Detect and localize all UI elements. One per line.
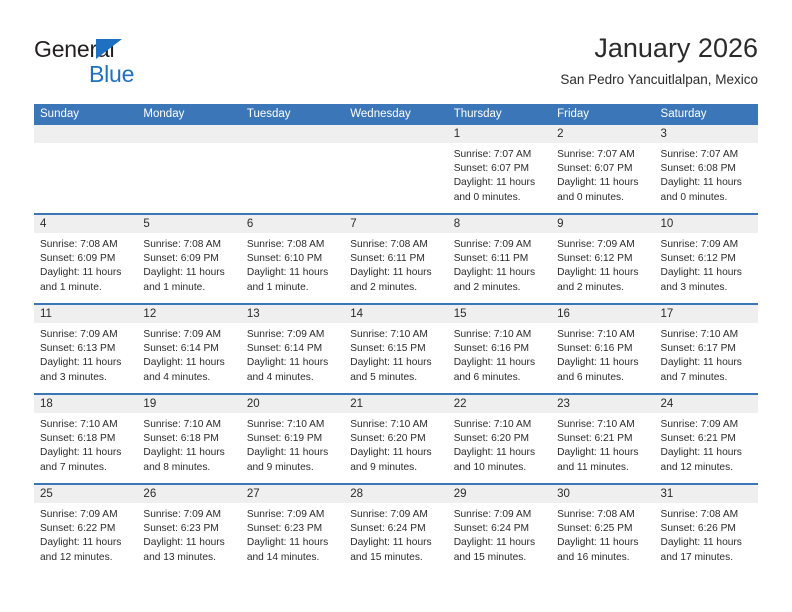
day-number-band: 31 (655, 485, 758, 503)
day-number: 25 (34, 485, 137, 503)
day-number: 2 (551, 125, 654, 143)
day-details: Sunrise: 7:09 AMSunset: 6:24 PMDaylight:… (344, 503, 447, 565)
day-cell-30[interactable]: 30Sunrise: 7:08 AMSunset: 6:25 PMDayligh… (551, 485, 654, 573)
calendar-page: General Blue January 2026 San Pedro Yanc… (0, 0, 792, 612)
detail-line: and 2 minutes. (454, 281, 545, 295)
page-subtitle: San Pedro Yancuitlalpan, Mexico (560, 71, 758, 89)
day-details: Sunrise: 7:09 AMSunset: 6:22 PMDaylight:… (34, 503, 137, 565)
weekday-header-saturday: Saturday (655, 104, 758, 125)
day-number-band: 2 (551, 125, 654, 143)
detail-line: Sunset: 6:19 PM (247, 432, 338, 446)
detail-line: and 2 minutes. (350, 281, 441, 295)
detail-line: and 12 minutes. (661, 461, 752, 475)
detail-line: Sunset: 6:20 PM (454, 432, 545, 446)
day-number: 3 (655, 125, 758, 143)
detail-line: Sunset: 6:23 PM (143, 522, 234, 536)
detail-line: and 11 minutes. (557, 461, 648, 475)
detail-line: Sunrise: 7:07 AM (661, 148, 752, 162)
detail-line: Daylight: 11 hours (247, 536, 338, 550)
calendar-week-row: 25Sunrise: 7:09 AMSunset: 6:22 PMDayligh… (34, 483, 758, 573)
detail-line: Daylight: 11 hours (454, 446, 545, 460)
detail-line: Sunrise: 7:10 AM (143, 418, 234, 432)
title-block: January 2026 San Pedro Yancuitlalpan, Me… (560, 32, 758, 89)
detail-line: Sunrise: 7:10 AM (40, 418, 131, 432)
day-number-band (34, 125, 137, 143)
day-number: 1 (448, 125, 551, 143)
detail-line: Sunset: 6:18 PM (143, 432, 234, 446)
day-number-band: 26 (137, 485, 240, 503)
detail-line: Sunrise: 7:09 AM (143, 508, 234, 522)
day-number: 26 (137, 485, 240, 503)
detail-line: Sunset: 6:24 PM (454, 522, 545, 536)
day-number: 23 (551, 395, 654, 413)
detail-line: and 16 minutes. (557, 551, 648, 565)
detail-line: Daylight: 11 hours (143, 266, 234, 280)
day-details: Sunrise: 7:10 AMSunset: 6:16 PMDaylight:… (551, 323, 654, 385)
detail-line: Daylight: 11 hours (661, 176, 752, 190)
detail-line: and 9 minutes. (350, 461, 441, 475)
detail-line: and 4 minutes. (143, 371, 234, 385)
day-details: Sunrise: 7:09 AMSunset: 6:23 PMDaylight:… (137, 503, 240, 565)
detail-line: Daylight: 11 hours (40, 446, 131, 460)
detail-line: Sunset: 6:12 PM (661, 252, 752, 266)
detail-line: and 12 minutes. (40, 551, 131, 565)
day-details: Sunrise: 7:09 AMSunset: 6:12 PMDaylight:… (551, 233, 654, 295)
page-title: January 2026 (560, 32, 758, 64)
detail-line: Daylight: 11 hours (350, 266, 441, 280)
weekday-header-tuesday: Tuesday (241, 104, 344, 125)
detail-line: Daylight: 11 hours (40, 356, 131, 370)
day-cell-18[interactable]: 18Sunrise: 7:10 AMSunset: 6:18 PMDayligh… (34, 395, 137, 483)
day-number-band: 27 (241, 485, 344, 503)
day-details: Sunrise: 7:10 AMSunset: 6:20 PMDaylight:… (344, 413, 447, 475)
detail-line: Daylight: 11 hours (661, 446, 752, 460)
detail-line: Sunset: 6:10 PM (247, 252, 338, 266)
detail-line: and 0 minutes. (661, 191, 752, 205)
detail-line: Daylight: 11 hours (661, 266, 752, 280)
detail-line: Sunset: 6:21 PM (661, 432, 752, 446)
day-number: 17 (655, 305, 758, 323)
detail-line: Sunrise: 7:10 AM (661, 328, 752, 342)
day-details: Sunrise: 7:10 AMSunset: 6:20 PMDaylight:… (448, 413, 551, 475)
day-cell-empty (344, 125, 447, 213)
detail-line: and 5 minutes. (350, 371, 441, 385)
day-number-band: 15 (448, 305, 551, 323)
detail-line: Sunrise: 7:08 AM (247, 238, 338, 252)
day-cell-27[interactable]: 27Sunrise: 7:09 AMSunset: 6:23 PMDayligh… (241, 485, 344, 573)
detail-line: Daylight: 11 hours (350, 446, 441, 460)
detail-line: Sunset: 6:14 PM (143, 342, 234, 356)
detail-line: Sunrise: 7:09 AM (40, 328, 131, 342)
detail-line: Sunset: 6:24 PM (350, 522, 441, 536)
day-details: Sunrise: 7:08 AMSunset: 6:09 PMDaylight:… (34, 233, 137, 295)
calendar-week-row: 18Sunrise: 7:10 AMSunset: 6:18 PMDayligh… (34, 393, 758, 483)
day-number: 19 (137, 395, 240, 413)
detail-line: Daylight: 11 hours (40, 266, 131, 280)
detail-line: and 0 minutes. (557, 191, 648, 205)
detail-line: Sunrise: 7:09 AM (247, 328, 338, 342)
detail-line: Daylight: 11 hours (557, 356, 648, 370)
detail-line: Daylight: 11 hours (350, 356, 441, 370)
detail-line: Sunset: 6:13 PM (40, 342, 131, 356)
detail-line: Daylight: 11 hours (247, 446, 338, 460)
day-number-band: 18 (34, 395, 137, 413)
calendar-week-row: 11Sunrise: 7:09 AMSunset: 6:13 PMDayligh… (34, 303, 758, 393)
day-details: Sunrise: 7:10 AMSunset: 6:21 PMDaylight:… (551, 413, 654, 475)
day-details: Sunrise: 7:09 AMSunset: 6:23 PMDaylight:… (241, 503, 344, 565)
day-number: 11 (34, 305, 137, 323)
weekday-header-monday: Monday (137, 104, 240, 125)
detail-line: and 15 minutes. (454, 551, 545, 565)
detail-line: and 7 minutes. (40, 461, 131, 475)
day-details: Sunrise: 7:10 AMSunset: 6:17 PMDaylight:… (655, 323, 758, 385)
day-number-band: 8 (448, 215, 551, 233)
day-number: 22 (448, 395, 551, 413)
day-number-band: 19 (137, 395, 240, 413)
day-details: Sunrise: 7:07 AMSunset: 6:08 PMDaylight:… (655, 143, 758, 205)
detail-line: Daylight: 11 hours (454, 536, 545, 550)
detail-line: Daylight: 11 hours (557, 176, 648, 190)
weekday-header-friday: Friday (551, 104, 654, 125)
detail-line: Sunset: 6:11 PM (454, 252, 545, 266)
day-details: Sunrise: 7:08 AMSunset: 6:26 PMDaylight:… (655, 503, 758, 565)
detail-line: Sunset: 6:18 PM (40, 432, 131, 446)
day-number-band: 10 (655, 215, 758, 233)
day-details: Sunrise: 7:09 AMSunset: 6:12 PMDaylight:… (655, 233, 758, 295)
logo-line-two: Blue (34, 60, 254, 88)
day-cell-29[interactable]: 29Sunrise: 7:09 AMSunset: 6:24 PMDayligh… (448, 485, 551, 573)
day-details: Sunrise: 7:09 AMSunset: 6:21 PMDaylight:… (655, 413, 758, 475)
day-cell-empty (34, 125, 137, 213)
day-number: 13 (241, 305, 344, 323)
day-details: Sunrise: 7:09 AMSunset: 6:14 PMDaylight:… (137, 323, 240, 385)
detail-line: and 8 minutes. (143, 461, 234, 475)
detail-line: Daylight: 11 hours (557, 446, 648, 460)
detail-line: Sunrise: 7:09 AM (350, 508, 441, 522)
detail-line: Sunrise: 7:08 AM (350, 238, 441, 252)
weekday-header-thursday: Thursday (448, 104, 551, 125)
day-cell-28[interactable]: 28Sunrise: 7:09 AMSunset: 6:24 PMDayligh… (344, 485, 447, 573)
logo-line-one: General (34, 36, 254, 62)
day-number-band: 24 (655, 395, 758, 413)
day-number-band: 20 (241, 395, 344, 413)
triangle-icon (96, 39, 122, 59)
detail-line: Daylight: 11 hours (557, 536, 648, 550)
day-number-band: 14 (344, 305, 447, 323)
detail-line: Sunset: 6:21 PM (557, 432, 648, 446)
generalblue-logo[interactable]: General Blue (34, 36, 254, 88)
day-details: Sunrise: 7:07 AMSunset: 6:07 PMDaylight:… (448, 143, 551, 205)
detail-line: and 1 minute. (143, 281, 234, 295)
detail-line: Sunset: 6:14 PM (247, 342, 338, 356)
day-number-band: 6 (241, 215, 344, 233)
detail-line: and 1 minute. (40, 281, 131, 295)
detail-line: Daylight: 11 hours (40, 536, 131, 550)
day-cell-3[interactable]: 3Sunrise: 7:07 AMSunset: 6:08 PMDaylight… (655, 125, 758, 213)
day-details: Sunrise: 7:10 AMSunset: 6:18 PMDaylight:… (137, 413, 240, 475)
day-cell-11[interactable]: 11Sunrise: 7:09 AMSunset: 6:13 PMDayligh… (34, 305, 137, 393)
day-cell-14[interactable]: 14Sunrise: 7:10 AMSunset: 6:15 PMDayligh… (344, 305, 447, 393)
detail-line: Sunrise: 7:09 AM (40, 508, 131, 522)
day-cell-5[interactable]: 5Sunrise: 7:08 AMSunset: 6:09 PMDaylight… (137, 215, 240, 303)
day-number-band: 12 (137, 305, 240, 323)
detail-line: Sunrise: 7:08 AM (661, 508, 752, 522)
calendar-week-row: 1Sunrise: 7:07 AMSunset: 6:07 PMDaylight… (34, 125, 758, 213)
detail-line: Sunrise: 7:09 AM (454, 508, 545, 522)
day-number-band: 13 (241, 305, 344, 323)
detail-line: and 4 minutes. (247, 371, 338, 385)
detail-line: Sunset: 6:26 PM (661, 522, 752, 536)
day-number: 12 (137, 305, 240, 323)
calendar-week-row: 4Sunrise: 7:08 AMSunset: 6:09 PMDaylight… (34, 213, 758, 303)
detail-line: Sunset: 6:08 PM (661, 162, 752, 176)
weekday-header-row: SundayMondayTuesdayWednesdayThursdayFrid… (34, 104, 758, 125)
detail-line: Daylight: 11 hours (143, 536, 234, 550)
day-details: Sunrise: 7:10 AMSunset: 6:15 PMDaylight:… (344, 323, 447, 385)
detail-line: Sunrise: 7:10 AM (557, 328, 648, 342)
day-number-band: 30 (551, 485, 654, 503)
day-number: 10 (655, 215, 758, 233)
detail-line: Sunrise: 7:09 AM (143, 328, 234, 342)
detail-line: and 17 minutes. (661, 551, 752, 565)
day-number: 31 (655, 485, 758, 503)
day-number-band: 16 (551, 305, 654, 323)
day-number-band (241, 125, 344, 143)
detail-line: Sunset: 6:23 PM (247, 522, 338, 536)
day-number: 21 (344, 395, 447, 413)
day-number-band: 21 (344, 395, 447, 413)
detail-line: Sunset: 6:25 PM (557, 522, 648, 536)
day-cell-13[interactable]: 13Sunrise: 7:09 AMSunset: 6:14 PMDayligh… (241, 305, 344, 393)
detail-line: Sunrise: 7:10 AM (350, 418, 441, 432)
detail-line: Sunrise: 7:09 AM (247, 508, 338, 522)
detail-line: and 14 minutes. (247, 551, 338, 565)
detail-line: Sunset: 6:17 PM (661, 342, 752, 356)
detail-line: Daylight: 11 hours (661, 356, 752, 370)
day-number: 28 (344, 485, 447, 503)
detail-line: Sunrise: 7:10 AM (247, 418, 338, 432)
day-number-band: 29 (448, 485, 551, 503)
day-number: 20 (241, 395, 344, 413)
detail-line: Daylight: 11 hours (454, 356, 545, 370)
detail-line: Sunset: 6:16 PM (454, 342, 545, 356)
day-details: Sunrise: 7:09 AMSunset: 6:13 PMDaylight:… (34, 323, 137, 385)
day-details: Sunrise: 7:10 AMSunset: 6:19 PMDaylight:… (241, 413, 344, 475)
detail-line: Sunset: 6:09 PM (40, 252, 131, 266)
day-number-band (344, 125, 447, 143)
day-number-band: 5 (137, 215, 240, 233)
day-cell-6[interactable]: 6Sunrise: 7:08 AMSunset: 6:10 PMDaylight… (241, 215, 344, 303)
day-cell-16[interactable]: 16Sunrise: 7:10 AMSunset: 6:16 PMDayligh… (551, 305, 654, 393)
day-number: 14 (344, 305, 447, 323)
detail-line: and 10 minutes. (454, 461, 545, 475)
day-number-band: 7 (344, 215, 447, 233)
day-number: 6 (241, 215, 344, 233)
day-number: 15 (448, 305, 551, 323)
calendar-grid: SundayMondayTuesdayWednesdayThursdayFrid… (34, 104, 758, 573)
day-details: Sunrise: 7:07 AMSunset: 6:07 PMDaylight:… (551, 143, 654, 205)
weekday-header-wednesday: Wednesday (344, 104, 447, 125)
day-number-band: 28 (344, 485, 447, 503)
day-details: Sunrise: 7:08 AMSunset: 6:10 PMDaylight:… (241, 233, 344, 295)
day-number: 24 (655, 395, 758, 413)
day-cell-2[interactable]: 2Sunrise: 7:07 AMSunset: 6:07 PMDaylight… (551, 125, 654, 213)
detail-line: Daylight: 11 hours (143, 356, 234, 370)
detail-line: Daylight: 11 hours (143, 446, 234, 460)
detail-line: Sunrise: 7:09 AM (454, 238, 545, 252)
detail-line: Daylight: 11 hours (661, 536, 752, 550)
day-number: 5 (137, 215, 240, 233)
detail-line: Sunrise: 7:09 AM (661, 418, 752, 432)
day-number: 18 (34, 395, 137, 413)
detail-line: Sunrise: 7:07 AM (454, 148, 545, 162)
day-cell-15[interactable]: 15Sunrise: 7:10 AMSunset: 6:16 PMDayligh… (448, 305, 551, 393)
day-details: Sunrise: 7:08 AMSunset: 6:09 PMDaylight:… (137, 233, 240, 295)
detail-line: Sunrise: 7:09 AM (557, 238, 648, 252)
detail-line: Sunrise: 7:08 AM (143, 238, 234, 252)
day-number: 27 (241, 485, 344, 503)
day-number: 29 (448, 485, 551, 503)
detail-line: Daylight: 11 hours (454, 266, 545, 280)
detail-line: Sunset: 6:11 PM (350, 252, 441, 266)
day-details: Sunrise: 7:10 AMSunset: 6:18 PMDaylight:… (34, 413, 137, 475)
detail-line: Sunset: 6:16 PM (557, 342, 648, 356)
day-number: 4 (34, 215, 137, 233)
day-details: Sunrise: 7:10 AMSunset: 6:16 PMDaylight:… (448, 323, 551, 385)
day-number-band: 11 (34, 305, 137, 323)
day-details: Sunrise: 7:09 AMSunset: 6:14 PMDaylight:… (241, 323, 344, 385)
day-cell-4[interactable]: 4Sunrise: 7:08 AMSunset: 6:09 PMDaylight… (34, 215, 137, 303)
detail-line: Sunrise: 7:09 AM (661, 238, 752, 252)
detail-line: Daylight: 11 hours (247, 266, 338, 280)
day-details: Sunrise: 7:09 AMSunset: 6:11 PMDaylight:… (448, 233, 551, 295)
day-cell-8[interactable]: 8Sunrise: 7:09 AMSunset: 6:11 PMDaylight… (448, 215, 551, 303)
day-number-band: 4 (34, 215, 137, 233)
day-cell-12[interactable]: 12Sunrise: 7:09 AMSunset: 6:14 PMDayligh… (137, 305, 240, 393)
detail-line: Sunrise: 7:08 AM (557, 508, 648, 522)
detail-line: and 0 minutes. (454, 191, 545, 205)
day-number-band: 25 (34, 485, 137, 503)
detail-line: Sunset: 6:20 PM (350, 432, 441, 446)
day-number-band: 9 (551, 215, 654, 233)
detail-line: Daylight: 11 hours (454, 176, 545, 190)
detail-line: Sunrise: 7:10 AM (454, 418, 545, 432)
day-number-band: 17 (655, 305, 758, 323)
weekday-header-sunday: Sunday (34, 104, 137, 125)
detail-line: and 2 minutes. (557, 281, 648, 295)
logo-text-blue: Blue (89, 61, 134, 87)
day-cell-21[interactable]: 21Sunrise: 7:10 AMSunset: 6:20 PMDayligh… (344, 395, 447, 483)
day-number: 8 (448, 215, 551, 233)
detail-line: Daylight: 11 hours (557, 266, 648, 280)
day-cell-7[interactable]: 7Sunrise: 7:08 AMSunset: 6:11 PMDaylight… (344, 215, 447, 303)
day-cell-23[interactable]: 23Sunrise: 7:10 AMSunset: 6:21 PMDayligh… (551, 395, 654, 483)
day-cell-20[interactable]: 20Sunrise: 7:10 AMSunset: 6:19 PMDayligh… (241, 395, 344, 483)
day-details: Sunrise: 7:08 AMSunset: 6:11 PMDaylight:… (344, 233, 447, 295)
day-number-band: 22 (448, 395, 551, 413)
day-number: 7 (344, 215, 447, 233)
detail-line: Sunrise: 7:10 AM (454, 328, 545, 342)
day-number-band (137, 125, 240, 143)
day-cell-19[interactable]: 19Sunrise: 7:10 AMSunset: 6:18 PMDayligh… (137, 395, 240, 483)
detail-line: and 13 minutes. (143, 551, 234, 565)
detail-line: Sunset: 6:07 PM (557, 162, 648, 176)
day-cell-24[interactable]: 24Sunrise: 7:09 AMSunset: 6:21 PMDayligh… (655, 395, 758, 483)
day-cell-17[interactable]: 17Sunrise: 7:10 AMSunset: 6:17 PMDayligh… (655, 305, 758, 393)
detail-line: Sunset: 6:15 PM (350, 342, 441, 356)
day-number: 30 (551, 485, 654, 503)
day-details: Sunrise: 7:08 AMSunset: 6:25 PMDaylight:… (551, 503, 654, 565)
day-number-band: 23 (551, 395, 654, 413)
day-cell-empty (137, 125, 240, 213)
day-number: 9 (551, 215, 654, 233)
detail-line: Sunrise: 7:07 AM (557, 148, 648, 162)
day-number: 16 (551, 305, 654, 323)
day-number-band: 1 (448, 125, 551, 143)
detail-line: and 9 minutes. (247, 461, 338, 475)
detail-line: Sunrise: 7:10 AM (350, 328, 441, 342)
day-number-band: 3 (655, 125, 758, 143)
detail-line: Sunset: 6:12 PM (557, 252, 648, 266)
day-cell-31[interactable]: 31Sunrise: 7:08 AMSunset: 6:26 PMDayligh… (655, 485, 758, 573)
day-cell-1[interactable]: 1Sunrise: 7:07 AMSunset: 6:07 PMDaylight… (448, 125, 551, 213)
detail-line: and 7 minutes. (661, 371, 752, 385)
day-cell-9[interactable]: 9Sunrise: 7:09 AMSunset: 6:12 PMDaylight… (551, 215, 654, 303)
day-cell-22[interactable]: 22Sunrise: 7:10 AMSunset: 6:20 PMDayligh… (448, 395, 551, 483)
detail-line: Daylight: 11 hours (350, 536, 441, 550)
day-cell-10[interactable]: 10Sunrise: 7:09 AMSunset: 6:12 PMDayligh… (655, 215, 758, 303)
day-cell-26[interactable]: 26Sunrise: 7:09 AMSunset: 6:23 PMDayligh… (137, 485, 240, 573)
detail-line: and 6 minutes. (454, 371, 545, 385)
day-cell-empty (241, 125, 344, 213)
detail-line: and 15 minutes. (350, 551, 441, 565)
detail-line: and 3 minutes. (661, 281, 752, 295)
page-header: General Blue January 2026 San Pedro Yanc… (0, 0, 792, 100)
detail-line: and 1 minute. (247, 281, 338, 295)
calendar-weeks: 1Sunrise: 7:07 AMSunset: 6:07 PMDaylight… (34, 125, 758, 573)
detail-line: and 6 minutes. (557, 371, 648, 385)
detail-line: and 3 minutes. (40, 371, 131, 385)
detail-line: Sunset: 6:22 PM (40, 522, 131, 536)
detail-line: Sunrise: 7:10 AM (557, 418, 648, 432)
detail-line: Daylight: 11 hours (247, 356, 338, 370)
detail-line: Sunset: 6:07 PM (454, 162, 545, 176)
detail-line: Sunset: 6:09 PM (143, 252, 234, 266)
day-cell-25[interactable]: 25Sunrise: 7:09 AMSunset: 6:22 PMDayligh… (34, 485, 137, 573)
day-details: Sunrise: 7:09 AMSunset: 6:24 PMDaylight:… (448, 503, 551, 565)
detail-line: Sunrise: 7:08 AM (40, 238, 131, 252)
